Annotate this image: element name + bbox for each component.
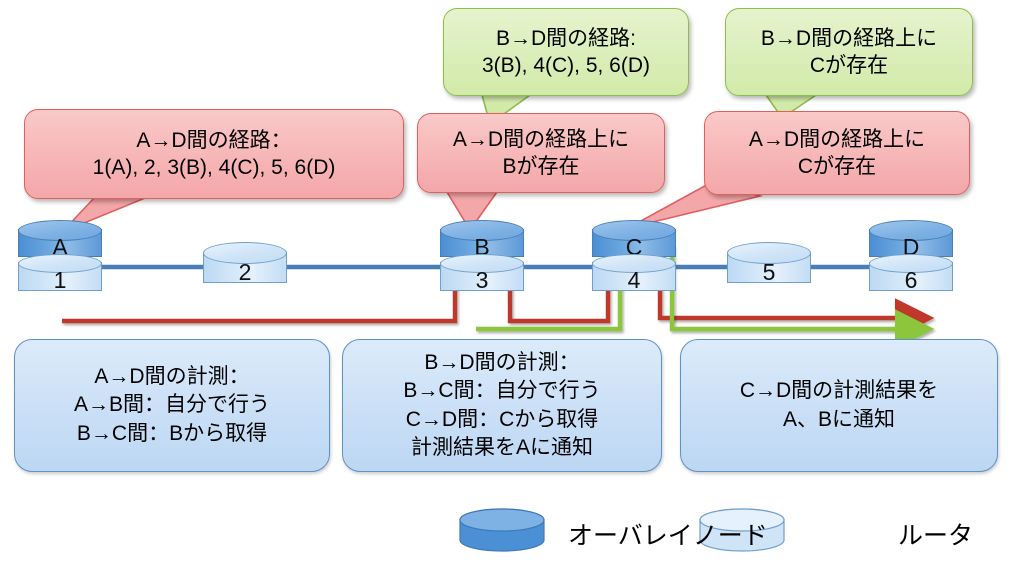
notify-box-c-d[interactable]: C→D間の計測結果を A、Bに通知: [680, 339, 998, 472]
node-router-5[interactable]: 5: [727, 242, 813, 290]
node-router-2-label: 2: [203, 261, 287, 284]
node-c[interactable]: C 4: [592, 220, 678, 292]
callout-b-on-path-a-d-text: A→D間の経路上に Bが存在: [443, 126, 639, 181]
node-c-router-cylinder: 4: [592, 254, 676, 292]
green-measure-path: [476, 247, 908, 329]
measurement-box-a-d-text: A→D間の計測： A→B間：自分で行う B→C間：Bから取得: [74, 363, 270, 447]
node-b[interactable]: B 3: [440, 220, 526, 292]
notify-box-c-d-text: C→D間の計測結果を A、Bに通知: [740, 377, 938, 433]
node-d-router-cylinder: 6: [869, 254, 953, 292]
callout-path-a-d-text: A→D間の経路： 1(A), 2, 3(B), 4(C), 5, 6(D): [83, 127, 346, 182]
legend-label-overlay-node: オーバレイノード: [568, 516, 768, 552]
callout-c-on-path-b-d[interactable]: B→D間の経路上に Cが存在: [725, 8, 973, 96]
node-a[interactable]: A 1: [18, 220, 104, 292]
node-d-overlay-cylinder: D: [869, 220, 953, 256]
legend-overlay-node-text: オーバレイノード: [568, 522, 768, 550]
measurement-box-b-d[interactable]: B→D間の計測： B→C間：自分で行う C→D間：Cから取得 計測結果をAに通知: [342, 339, 662, 472]
legend-router-text: ルータ: [898, 522, 973, 550]
callout-path-b-d[interactable]: B→D間の経路: 3(B), 4(C), 5, 6(D): [443, 8, 689, 96]
callout-b-on-path-a-d[interactable]: A→D間の経路上に Bが存在: [417, 113, 665, 193]
node-c-overlay-cylinder: C: [592, 220, 676, 256]
callout-path-a-d[interactable]: A→D間の経路： 1(A), 2, 3(B), 4(C), 5, 6(D): [24, 109, 404, 199]
node-a-router-label: 1: [18, 269, 102, 292]
callout-path-b-d-text: B→D間の経路: 3(B), 4(C), 5, 6(D): [472, 25, 660, 80]
node-d[interactable]: D 6: [869, 220, 955, 292]
node-router-2-cylinder: 2: [203, 242, 287, 286]
node-router-2[interactable]: 2: [203, 242, 289, 290]
callout-c-on-path-a-d[interactable]: A→D間の経路上に Cが存在: [704, 111, 970, 195]
measurement-box-b-d-text: B→D間の計測： B→C間：自分で行う C→D間：Cから取得 計測結果をAに通知: [403, 349, 600, 462]
node-c-router-label: 4: [592, 269, 676, 292]
diagram-canvas: A→D間の経路： 1(A), 2, 3(B), 4(C), 5, 6(D) B→…: [0, 0, 1012, 573]
node-b-router-label: 3: [440, 269, 524, 292]
node-a-router-cylinder: 1: [18, 254, 102, 292]
legend-swatch-overlay-node: [460, 509, 544, 551]
node-b-overlay-cylinder: B: [440, 220, 524, 256]
measurement-box-a-d[interactable]: A→D間の計測： A→B間：自分で行う B→C間：Bから取得: [14, 339, 330, 472]
node-router-5-label: 5: [727, 261, 811, 284]
node-d-router-label: 6: [869, 269, 953, 292]
callout-c-on-path-a-d-text: A→D間の経路上に Cが存在: [739, 126, 935, 181]
node-a-overlay-cylinder: A: [18, 220, 102, 256]
callout-c-on-path-b-d-text: B→D間の経路上に Cが存在: [751, 25, 947, 80]
node-b-router-cylinder: 3: [440, 254, 524, 292]
node-router-5-cylinder: 5: [727, 242, 811, 286]
legend-label-router: ルータ: [898, 516, 973, 552]
